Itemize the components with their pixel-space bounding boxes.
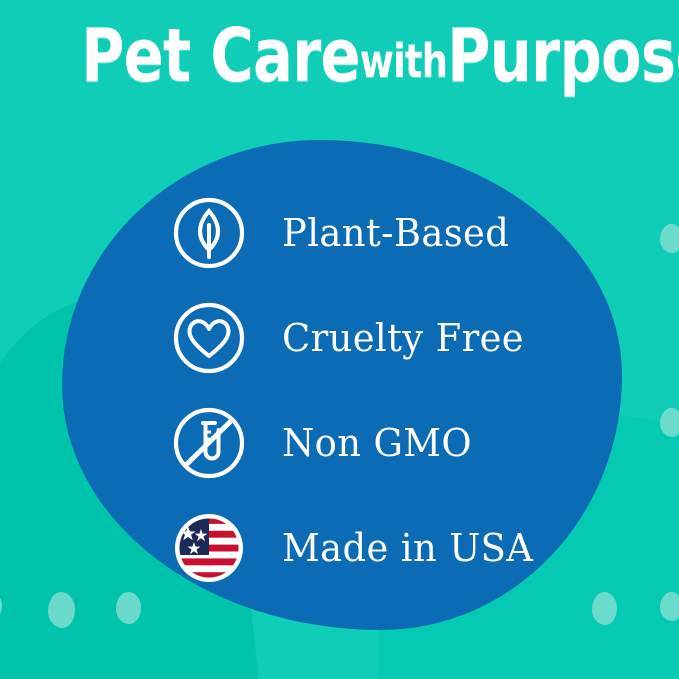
- headline-container: Pet CarewithPurpose®: [0, 18, 679, 96]
- promo-graphic: Pet CarewithPurpose® Plant-Based Cruelty: [0, 0, 679, 679]
- leaf-icon: [170, 194, 248, 272]
- headline-part1: Pet Care: [81, 13, 360, 99]
- feature-label: Made in USA: [282, 526, 533, 570]
- no-gmo-icon: [170, 404, 248, 482]
- feature-label: Non GMO: [282, 421, 472, 465]
- feature-label: Plant-Based: [282, 211, 509, 255]
- headline-connector: with: [360, 34, 447, 88]
- feature-row-cruelty-free: Cruelty Free: [0, 285, 679, 390]
- feature-row-non-gmo: Non GMO: [0, 390, 679, 495]
- headline-part2: Purpose: [447, 13, 679, 99]
- feature-row-made-in-usa: Made in USA: [0, 495, 679, 600]
- usa-flag-icon: [170, 509, 248, 587]
- feature-row-plant-based: Plant-Based: [0, 180, 679, 285]
- feature-list: Plant-Based Cruelty Free: [0, 180, 679, 600]
- feature-label: Cruelty Free: [282, 316, 524, 360]
- page-title: Pet CarewithPurpose®: [81, 18, 679, 96]
- heart-icon: [170, 299, 248, 377]
